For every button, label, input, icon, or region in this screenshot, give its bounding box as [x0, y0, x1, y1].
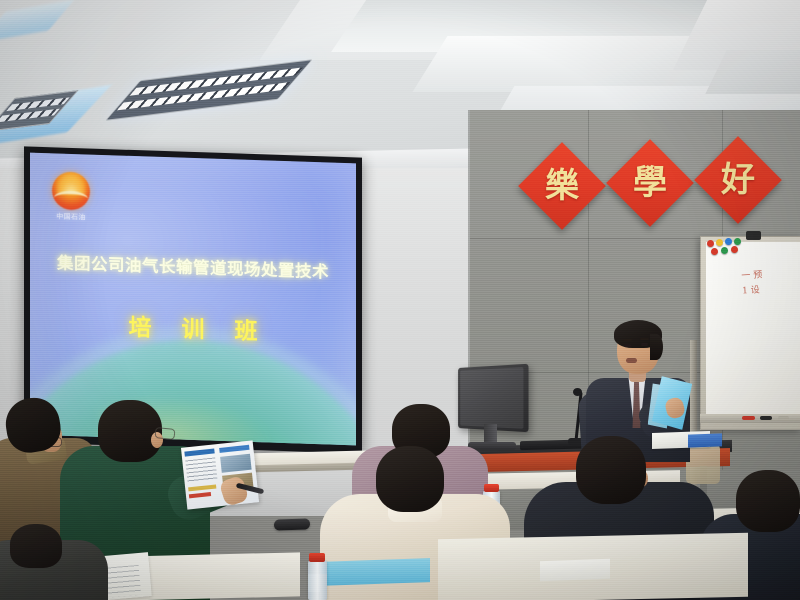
bottle-cap — [309, 553, 325, 562]
magnet-red[interactable] — [731, 246, 738, 253]
wall-plaque-diamond-3: 好 — [694, 136, 782, 224]
attendee-cream-jacket-head — [376, 446, 444, 512]
whiteboard-clip — [746, 231, 761, 240]
petrochina-logo: 中国石油 — [48, 171, 94, 229]
brochure-text-block — [185, 457, 217, 482]
attendee-right-suit-head — [736, 470, 800, 532]
presenter-eyebrow — [623, 339, 632, 341]
glasses-case — [274, 518, 310, 530]
eraser[interactable] — [778, 416, 789, 420]
recessed-louvre-light-icon — [105, 59, 313, 121]
ceiling-light-glow — [0, 0, 74, 43]
attendee-foreground-head — [10, 524, 62, 568]
petrochina-logo-text: 中国石油 — [48, 211, 94, 223]
blue-handout — [320, 558, 430, 586]
magnet-yellow[interactable] — [716, 239, 723, 246]
plaque-character: 學 — [619, 152, 681, 214]
magnet-blue[interactable] — [725, 238, 732, 245]
printed-brochure — [181, 440, 259, 509]
monitor-housing — [460, 367, 523, 429]
brochure-accent-bar — [188, 484, 216, 491]
whiteboard-ink-line-2: 1 设 — [742, 282, 799, 300]
brochure-photo — [220, 454, 252, 473]
presenter-eye — [641, 343, 648, 346]
presenter-chair — [686, 444, 720, 484]
wall-plaque-diamond-1: 樂 — [518, 142, 606, 230]
marker-red[interactable] — [742, 416, 755, 420]
classroom-photo: 樂 學 好 中国石油 集团公司油气长输管道现场处置技术 培 训 班 一 预 1 … — [0, 0, 800, 600]
presenter-eye — [624, 344, 631, 347]
wall-plaque-diamond-2: 學 — [606, 139, 694, 227]
brochure-accent-bar — [189, 492, 211, 498]
plaque-character: 好 — [707, 149, 769, 211]
marker-black[interactable] — [760, 416, 772, 420]
magnet-red[interactable] — [711, 248, 718, 255]
water-bottle — [308, 560, 327, 600]
projection-screen: 中国石油 集团公司油气长输管道现场处置技术 培 训 班 — [30, 153, 356, 446]
plaque-character: 樂 — [531, 155, 593, 217]
whiteboard-handwriting: 一 预 1 设 — [741, 267, 799, 308]
brochure-header-bar — [219, 445, 249, 453]
attendee-green-sweater-head — [98, 400, 162, 462]
magnet-green[interactable] — [734, 238, 741, 245]
attendee-dark-suit-head — [576, 436, 646, 504]
bottle-cap — [484, 484, 499, 492]
brochure-header-bar — [184, 448, 214, 456]
table-papers — [540, 559, 610, 581]
microphone-head-icon — [573, 388, 582, 396]
magnet-green[interactable] — [721, 247, 728, 254]
magnet-red[interactable] — [707, 240, 714, 247]
presenter-mouth — [626, 358, 637, 363]
presenter-eyebrow — [640, 338, 649, 340]
desk-blue-folder — [688, 433, 722, 447]
presenter-hair-side — [650, 334, 663, 360]
eyeglasses-icon — [154, 427, 175, 440]
